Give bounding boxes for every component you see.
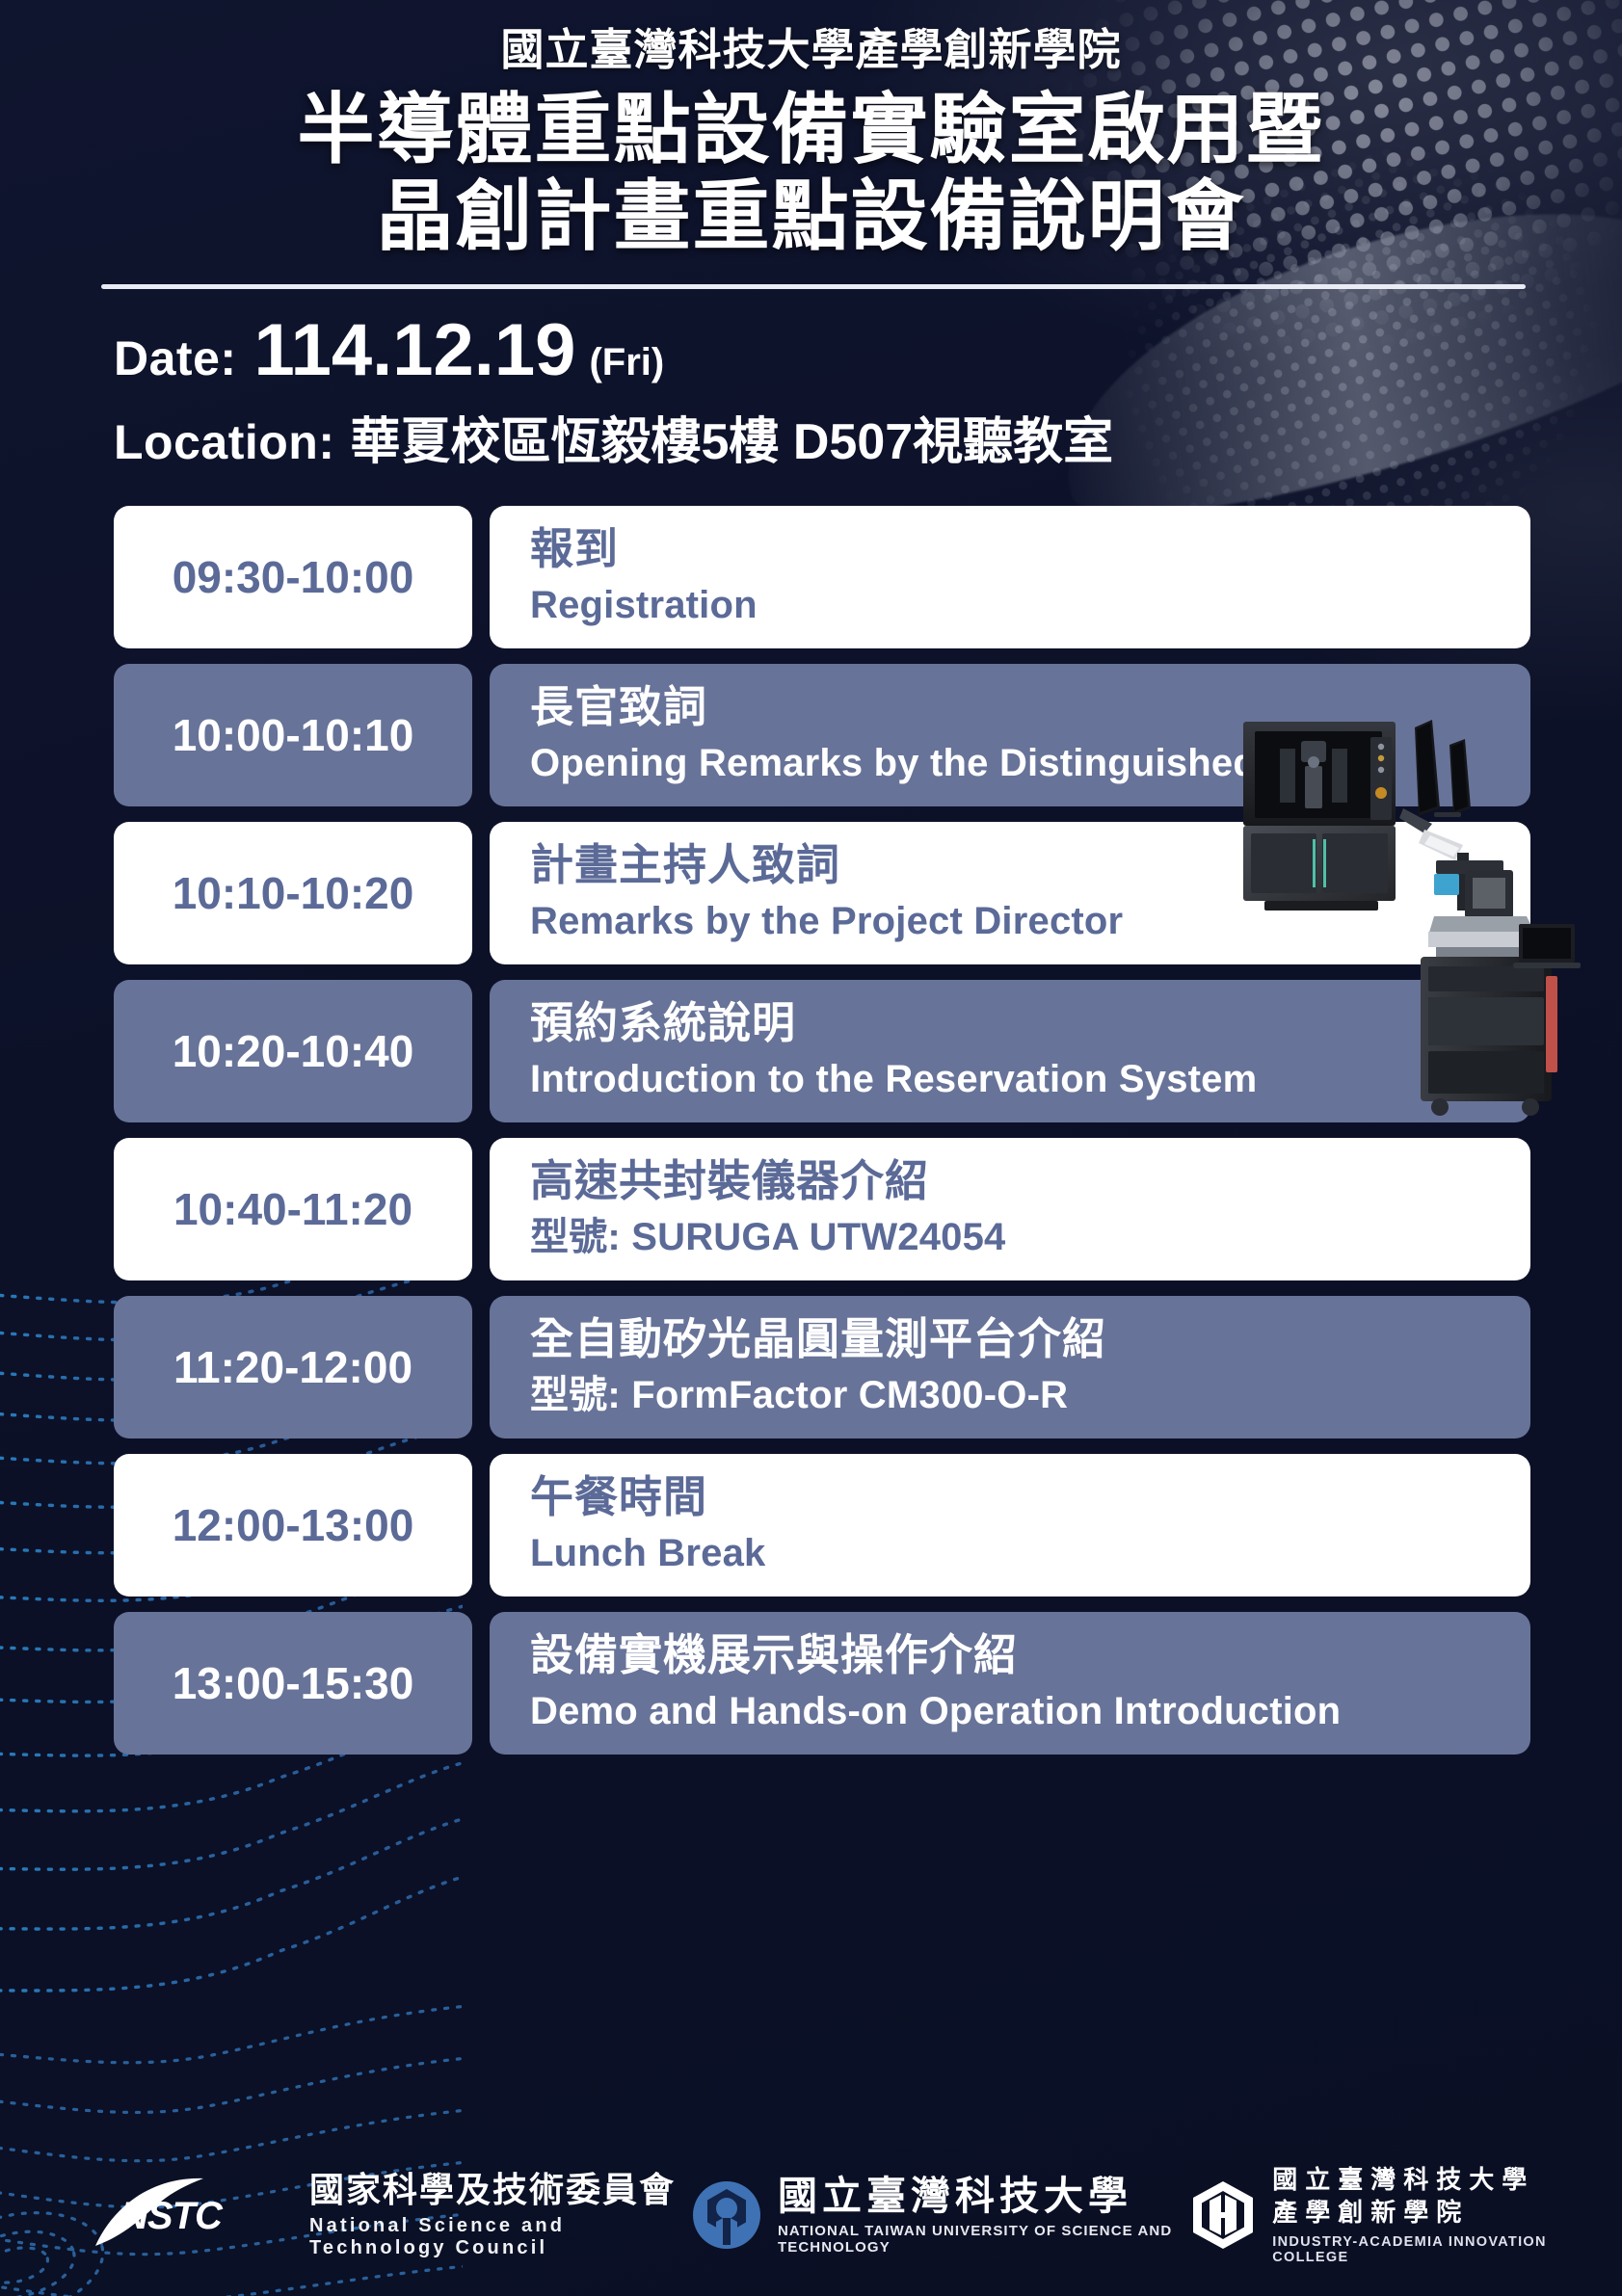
- schedule-title-zh: 報到: [530, 523, 1525, 575]
- schedule-title-en: Remarks by the Project Director: [530, 897, 1525, 945]
- schedule-title-cell: 設備實機展示與操作介紹Demo and Hands-on Operation I…: [490, 1612, 1530, 1755]
- iaic-name-zh-line2: 產學創新學院: [1272, 2197, 1555, 2230]
- title-line-2: 晶創計畫重點設備說明會: [39, 173, 1583, 260]
- date-row: Date: 114.12.19 (Fri): [114, 314, 1622, 387]
- schedule-row: 13:00-15:30設備實機展示與操作介紹Demo and Hands-on …: [114, 1612, 1530, 1755]
- organization-name: 國立臺灣科技大學產學創新學院: [39, 23, 1583, 77]
- logo-nstc: NSTC 國家科學及技術委員會 National Science and Tec…: [92, 2169, 691, 2261]
- schedule-row: 10:40-11:20高速共封裝儀器介紹型號: SURUGA UTW24054: [114, 1138, 1530, 1280]
- schedule-time-cell: 10:20-10:40: [114, 980, 472, 1122]
- schedule-title-en: Opening Remarks by the Distinguished Gue…: [530, 739, 1525, 787]
- schedule-title-cell: 午餐時間Lunch Break: [490, 1454, 1530, 1597]
- poster-header: 國立臺灣科技大學產學創新學院 半導體重點設備實驗室啟用暨 晶創計畫重點設備說明會: [0, 0, 1622, 259]
- iaic-text: 國立臺灣科技大學 產學創新學院 INDUSTRY-ACADEMIA INNOVA…: [1272, 2164, 1555, 2265]
- date-value: 114.12.19: [254, 314, 576, 387]
- schedule-title-zh: 設備實機展示與操作介紹: [530, 1629, 1525, 1681]
- schedule-row: 10:00-10:10長官致詞Opening Remarks by the Di…: [114, 664, 1530, 806]
- svg-text:NSTC: NSTC: [120, 2195, 224, 2237]
- ntust-hexagon-logo-icon: [691, 2179, 762, 2251]
- location-value: 華夏校區恆毅樓5樓 D507視聽教室: [350, 401, 1113, 473]
- schedule-row: 10:10-10:20計畫主持人致詞Remarks by the Project…: [114, 822, 1530, 964]
- footer-logos: NSTC 國家科學及技術委員會 National Science and Tec…: [0, 2164, 1622, 2265]
- page-title: 半導體重點設備實驗室啟用暨 晶創計畫重點設備說明會: [39, 87, 1583, 259]
- iaic-name-en: INDUSTRY-ACADEMIA INNOVATION COLLEGE: [1272, 2234, 1555, 2265]
- schedule-title-en: 型號: FormFactor CM300-O-R: [530, 1371, 1525, 1419]
- iaic-hex-h-logo-icon: [1189, 2179, 1257, 2251]
- schedule-title-en: Demo and Hands-on Operation Introduction: [530, 1687, 1525, 1735]
- schedule-row: 09:30-10:00報到Registration: [114, 506, 1530, 648]
- schedule-title-zh: 全自動矽光晶圓量測平台介紹: [530, 1313, 1525, 1365]
- schedule-title-cell: 全自動矽光晶圓量測平台介紹型號: FormFactor CM300-O-R: [490, 1296, 1530, 1438]
- schedule-time-cell: 09:30-10:00: [114, 506, 472, 648]
- location-label: Location:: [114, 414, 334, 470]
- ntust-name-en: NATIONAL TAIWAN UNIVERSITY OF SCIENCE AN…: [778, 2223, 1189, 2256]
- schedule-title-zh: 高速共封裝儀器介紹: [530, 1155, 1525, 1207]
- date-label: Date:: [114, 330, 237, 386]
- schedule-title-zh: 午餐時間: [530, 1471, 1525, 1523]
- schedule-title-cell: 長官致詞Opening Remarks by the Distinguished…: [490, 664, 1530, 806]
- schedule-row: 11:20-12:00全自動矽光晶圓量測平台介紹型號: FormFactor C…: [114, 1296, 1530, 1438]
- schedule-time-cell: 12:00-13:00: [114, 1454, 472, 1597]
- nstc-name-en: National Science and Technology Council: [309, 2215, 691, 2259]
- ntust-name-zh: 國立臺灣科技大學: [778, 2175, 1189, 2218]
- schedule-title-cell: 高速共封裝儀器介紹型號: SURUGA UTW24054: [490, 1138, 1530, 1280]
- schedule-row: 12:00-13:00午餐時間Lunch Break: [114, 1454, 1530, 1597]
- schedule-table: 09:30-10:00報到Registration10:00-10:10長官致詞…: [114, 506, 1530, 1755]
- logo-ntust: 國立臺灣科技大學 NATIONAL TAIWAN UNIVERSITY OF S…: [691, 2175, 1189, 2256]
- schedule-title-zh: 計畫主持人致詞: [530, 839, 1525, 891]
- ntust-text: 國立臺灣科技大學 NATIONAL TAIWAN UNIVERSITY OF S…: [778, 2175, 1189, 2256]
- schedule-time-cell: 10:40-11:20: [114, 1138, 472, 1280]
- iaic-name-zh-line1: 國立臺灣科技大學: [1272, 2164, 1555, 2197]
- schedule-title-en: Lunch Break: [530, 1529, 1525, 1577]
- nstc-name-zh: 國家科學及技術委員會: [309, 2171, 691, 2209]
- poster-content: 國立臺灣科技大學產學創新學院 半導體重點設備實驗室啟用暨 晶創計畫重點設備說明會…: [0, 0, 1622, 1755]
- nstc-swoosh-logo-icon: NSTC: [92, 2169, 294, 2261]
- logo-iaic: 國立臺灣科技大學 產學創新學院 INDUSTRY-ACADEMIA INNOVA…: [1189, 2164, 1555, 2265]
- event-meta: Date: 114.12.19 (Fri) Location: 華夏校區恆毅樓5…: [0, 289, 1622, 473]
- location-row: Location: 華夏校區恆毅樓5樓 D507視聽教室: [114, 401, 1622, 473]
- schedule-title-en: 型號: SURUGA UTW24054: [530, 1213, 1525, 1261]
- schedule-time-cell: 13:00-15:30: [114, 1612, 472, 1755]
- schedule-title-zh: 長官致詞: [530, 681, 1525, 733]
- nstc-text: 國家科學及技術委員會 National Science and Technolo…: [309, 2171, 691, 2259]
- schedule-time-cell: 11:20-12:00: [114, 1296, 472, 1438]
- title-line-1: 半導體重點設備實驗室啟用暨: [39, 87, 1583, 173]
- schedule-title-cell: 預約系統說明Introduction to the Reservation Sy…: [490, 980, 1530, 1122]
- date-weekday: (Fri): [589, 341, 664, 384]
- schedule-title-cell: 報到Registration: [490, 506, 1530, 648]
- schedule-title-cell: 計畫主持人致詞Remarks by the Project Director: [490, 822, 1530, 964]
- schedule-title-zh: 預約系統說明: [530, 997, 1525, 1049]
- schedule-time-cell: 10:10-10:20: [114, 822, 472, 964]
- schedule-title-en: Registration: [530, 581, 1525, 629]
- schedule-title-en: Introduction to the Reservation System: [530, 1055, 1525, 1103]
- schedule-time-cell: 10:00-10:10: [114, 664, 472, 806]
- schedule-row: 10:20-10:40預約系統說明Introduction to the Res…: [114, 980, 1530, 1122]
